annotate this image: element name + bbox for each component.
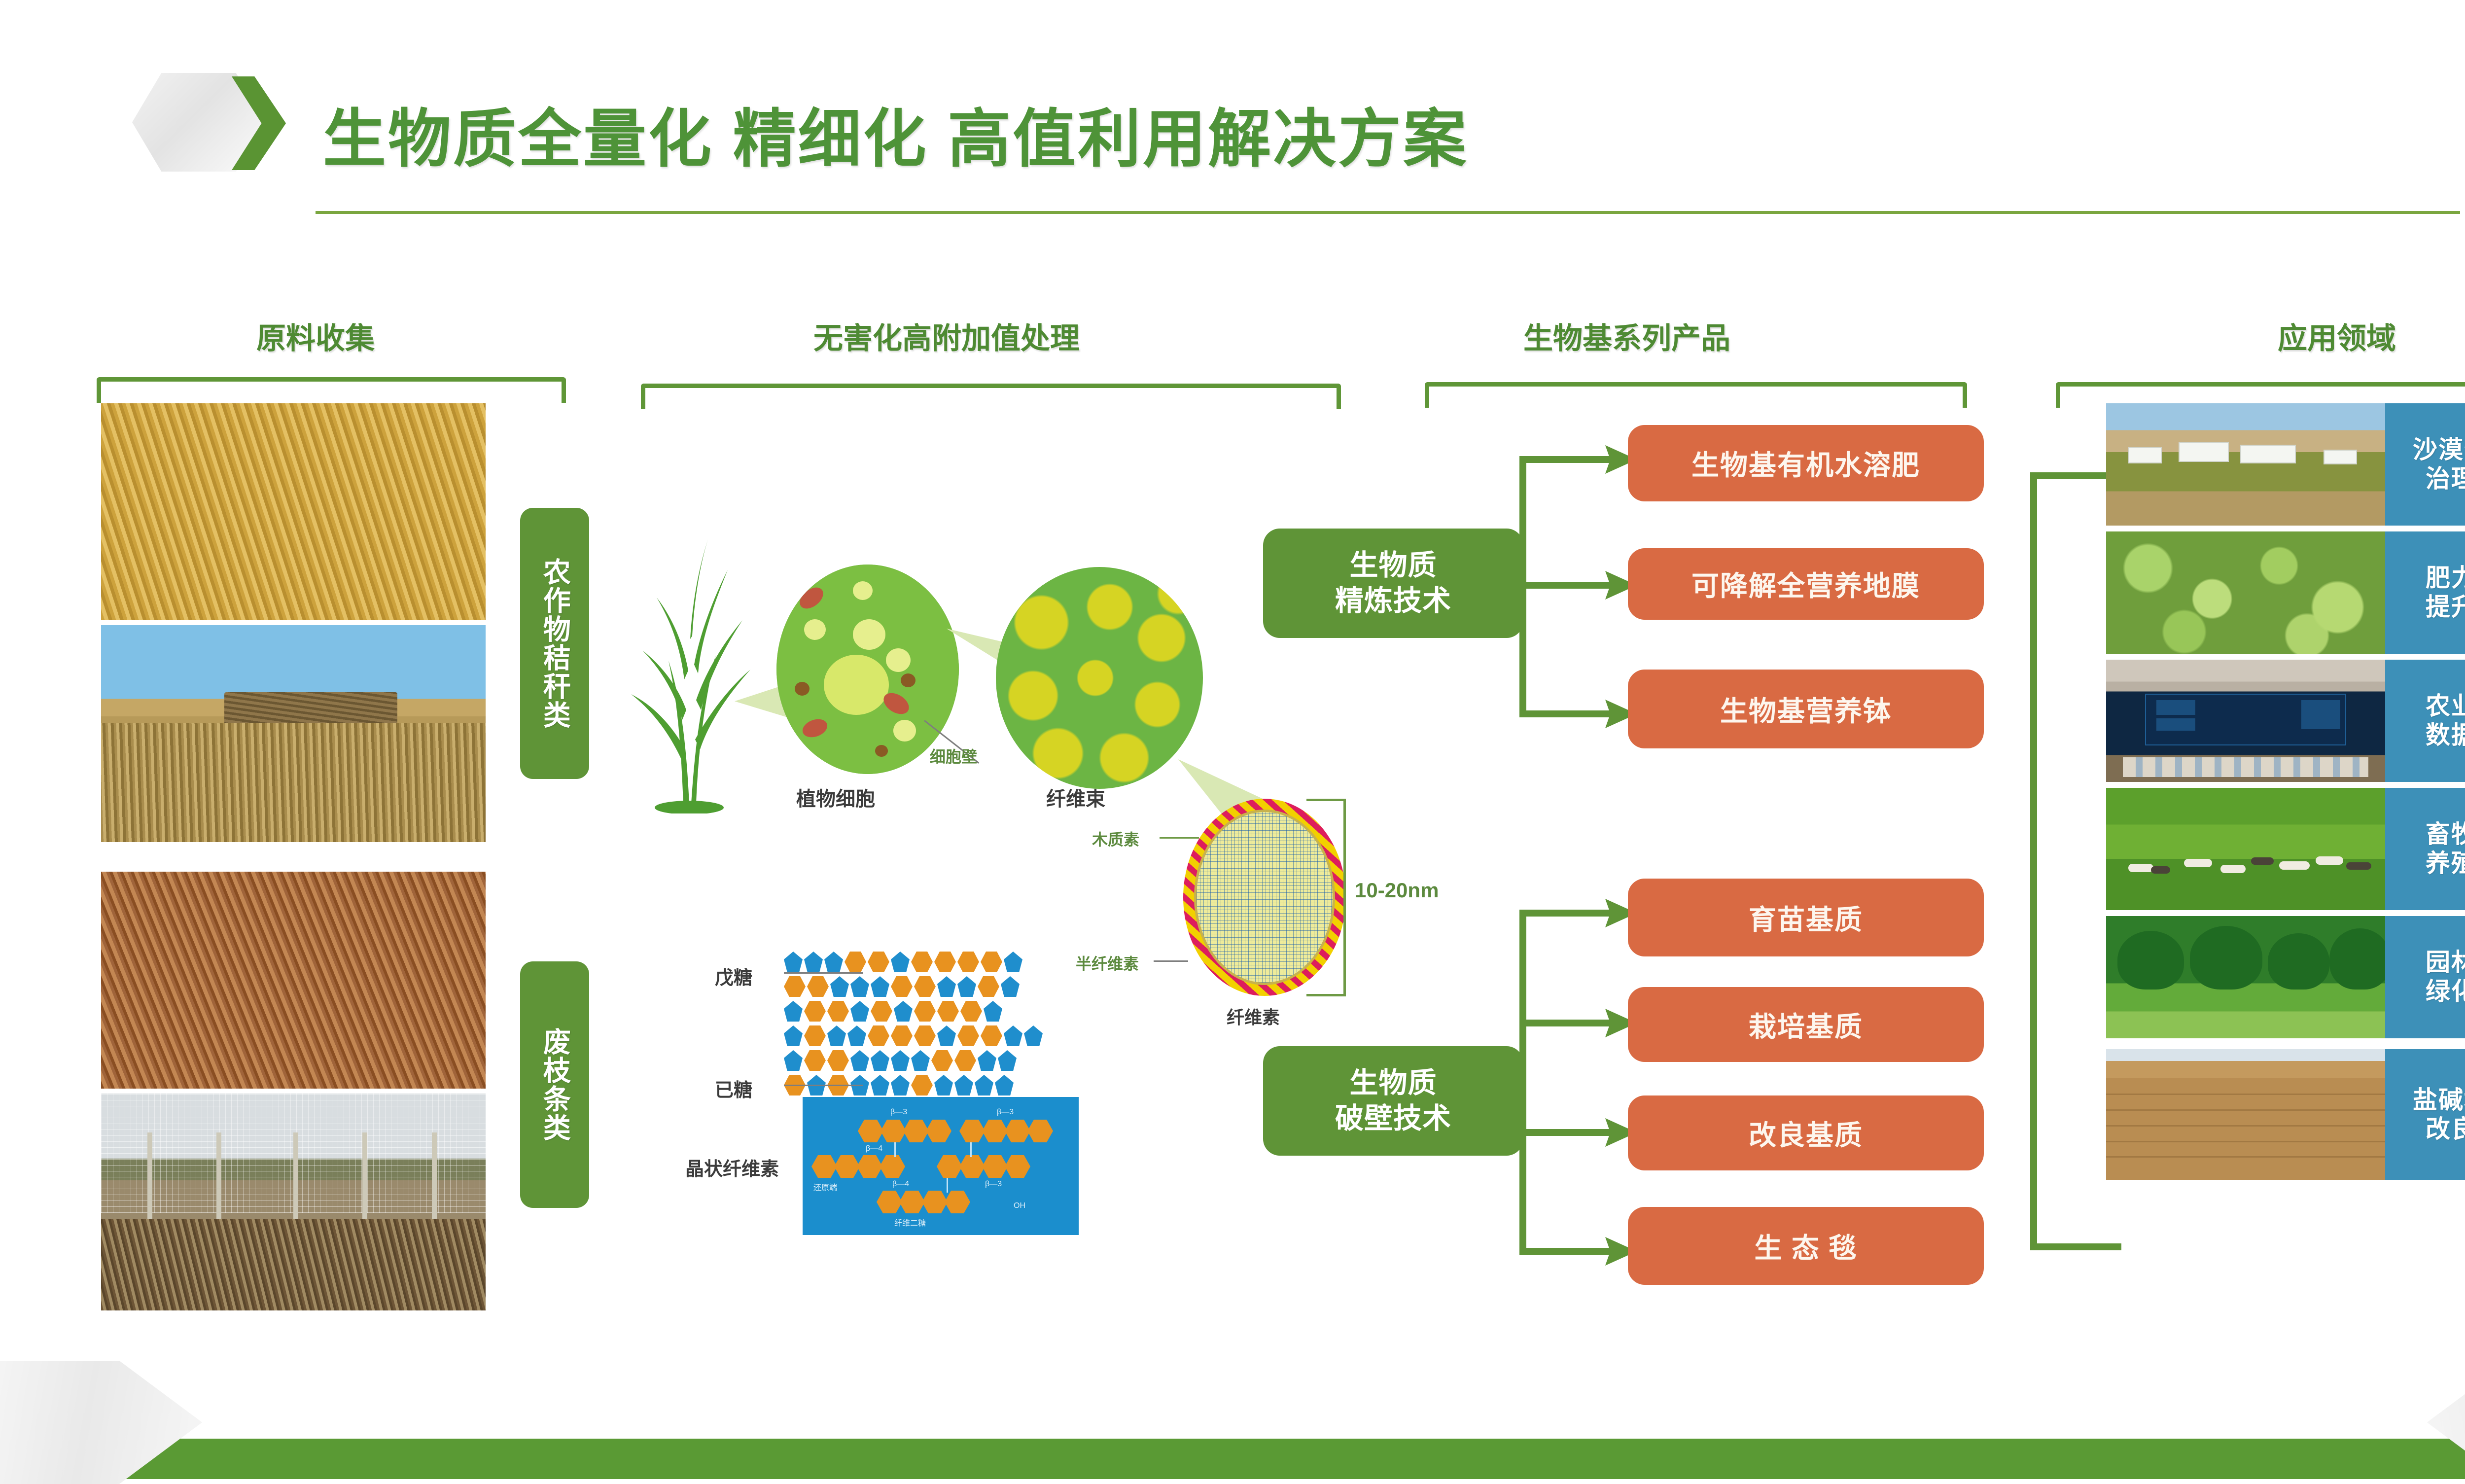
connector-branch-cellwall-4 — [1519, 1248, 1613, 1255]
connector-branch-cellwall-1 — [1519, 910, 1613, 917]
section-heading-collection: 原料收集 — [163, 315, 468, 357]
technology-pill-cellwall: 生物质 破壁技术 — [1263, 1046, 1523, 1156]
dimension-bar-vertical — [1343, 799, 1346, 996]
label-cellulose: 纤维素 — [1227, 1003, 1280, 1029]
infographic-canvas: 生物质全量化 精细化 高值利用解决方案 原料收集 无害化高附加值处理 生物基系列… — [0, 0, 2465, 1479]
connector-branch-refining-2 — [1519, 582, 1613, 589]
technology-refining-line1: 生物质 — [1349, 549, 1437, 581]
connector-branch-cellwall-2 — [1519, 1020, 1613, 1026]
application-label-livestock: 畜牧 养殖 — [2385, 788, 2465, 910]
photo-corn-straw-field — [101, 403, 486, 620]
product-pill-water-soluble-fertilizer: 生物基有机水溶肥 — [1628, 425, 1984, 501]
product-pill-ecological-blanket: 生 态 毯 — [1628, 1207, 1984, 1285]
photo-desert-control — [2106, 403, 2385, 526]
application-label-landscaping: 园林 绿化 — [2385, 916, 2465, 1038]
photo-saline-soil — [2106, 1049, 2385, 1180]
application-label-saline-improvement: 盐碱地 改良 — [2385, 1049, 2465, 1180]
app-4-line2: 绿化 — [2426, 978, 2465, 1005]
feedstock-category-waste-branches: 废枝条类 — [520, 961, 589, 1208]
footer-bar — [0, 1439, 2465, 1479]
crystalline-cellulose-diagram: β—3 β—3 β—4 β—4 β—3 纤维二糖 还原端 OH — [803, 1097, 1079, 1235]
app-4-line1: 园林 — [2426, 949, 2465, 976]
label-dimension: 10-20nm — [1355, 879, 1439, 902]
connector-branch-cellwall-3 — [1519, 1129, 1613, 1136]
technology-refining-line2: 精炼技术 — [1335, 585, 1451, 617]
lignin-leader-line — [1160, 837, 1199, 839]
app-3-line1: 畜牧 — [2426, 820, 2465, 848]
technology-cellwall-line1: 生物质 — [1349, 1067, 1437, 1099]
product-pill-degradable-mulch-film: 可降解全营养地膜 — [1628, 548, 1984, 620]
pentose-leader-line — [784, 972, 863, 974]
section-bracket-collection — [97, 377, 566, 403]
dimension-tick-top — [1306, 799, 1346, 801]
hexose-leader-line — [784, 1085, 863, 1086]
photo-dry-branches — [101, 872, 486, 1089]
photo-data-control-room — [2106, 660, 2385, 782]
section-heading-application: 应用领域 — [2120, 315, 2465, 357]
product-pill-cultivation-substrate: 栽培基质 — [1628, 987, 1984, 1062]
technology-cellwall-line2: 破壁技术 — [1335, 1102, 1451, 1134]
photo-vineyard-pruning — [101, 1094, 486, 1310]
label-lignin: 木质素 — [1092, 827, 1139, 850]
app-3-line2: 养殖 — [2426, 849, 2465, 877]
app-5-line2: 改良 — [2426, 1115, 2465, 1143]
app-1-line1: 肥力 — [2426, 564, 2465, 592]
section-heading-processing: 无害化高附加值处理 — [557, 315, 1336, 357]
application-label-desert-control: 沙漠化 治理 — [2385, 403, 2465, 526]
technology-pill-refining: 生物质 精炼技术 — [1263, 529, 1523, 638]
connector-branch-refining-1 — [1519, 456, 1613, 463]
label-hexose: 已糖 — [715, 1075, 752, 1102]
title-divider — [316, 211, 2460, 214]
app-0-line1: 沙漠化 — [2413, 436, 2465, 463]
feedstock-category-crop-straw: 农作物秸秆类 — [520, 508, 589, 779]
label-pentose: 戊糖 — [715, 962, 752, 989]
photo-cabbage-field — [2106, 531, 2385, 654]
product-pill-nutrition-pot: 生物基营养钵 — [1628, 670, 1984, 748]
hemicellulose-leader-line — [1154, 960, 1188, 962]
app-5-line1: 盐碱地 — [2413, 1086, 2465, 1114]
label-crystalline-cellulose: 晶状纤维素 — [685, 1154, 779, 1181]
product-pill-seedling-substrate: 育苗基质 — [1628, 879, 1984, 956]
plant-cell-illustration — [776, 565, 959, 774]
app-2-line1: 农业 — [2426, 692, 2465, 720]
section-bracket-products — [1425, 382, 1967, 408]
app-1-line2: 提升 — [2426, 593, 2465, 621]
app-0-line2: 治理 — [2426, 465, 2465, 493]
photo-straw-bale-field — [101, 625, 486, 842]
product-pill-improvement-substrate: 改良基质 — [1628, 1095, 1984, 1170]
grass-plant-icon — [626, 537, 754, 813]
cellulose-fibril-cross-section — [1183, 799, 1346, 996]
application-label-fertility-boost: 肥力 提升 — [2385, 531, 2465, 654]
connector-branch-refining-3 — [1519, 710, 1613, 717]
dimension-tick-bottom — [1306, 994, 1346, 996]
connector-trunk-cellwall — [1519, 910, 1526, 1255]
photo-park-landscape — [2106, 916, 2385, 1038]
label-fiber-bundle: 纤维束 — [1046, 783, 1105, 812]
section-heading-products: 生物基系列产品 — [1380, 315, 1873, 357]
label-plant-cell: 植物细胞 — [796, 783, 875, 812]
app-2-line2: 数据 — [2426, 721, 2465, 749]
page-title: 生物质全量化 精细化 高值利用解决方案 — [323, 88, 1468, 179]
label-cell-wall: 细胞壁 — [930, 744, 977, 767]
photo-grazing-sheep — [2106, 788, 2385, 910]
application-label-agriculture-data: 农业 数据 — [2385, 660, 2465, 782]
section-bracket-processing — [641, 384, 1341, 409]
fiber-bundle-illustration — [996, 567, 1203, 789]
sugar-chain-diagram — [715, 952, 1134, 1119]
